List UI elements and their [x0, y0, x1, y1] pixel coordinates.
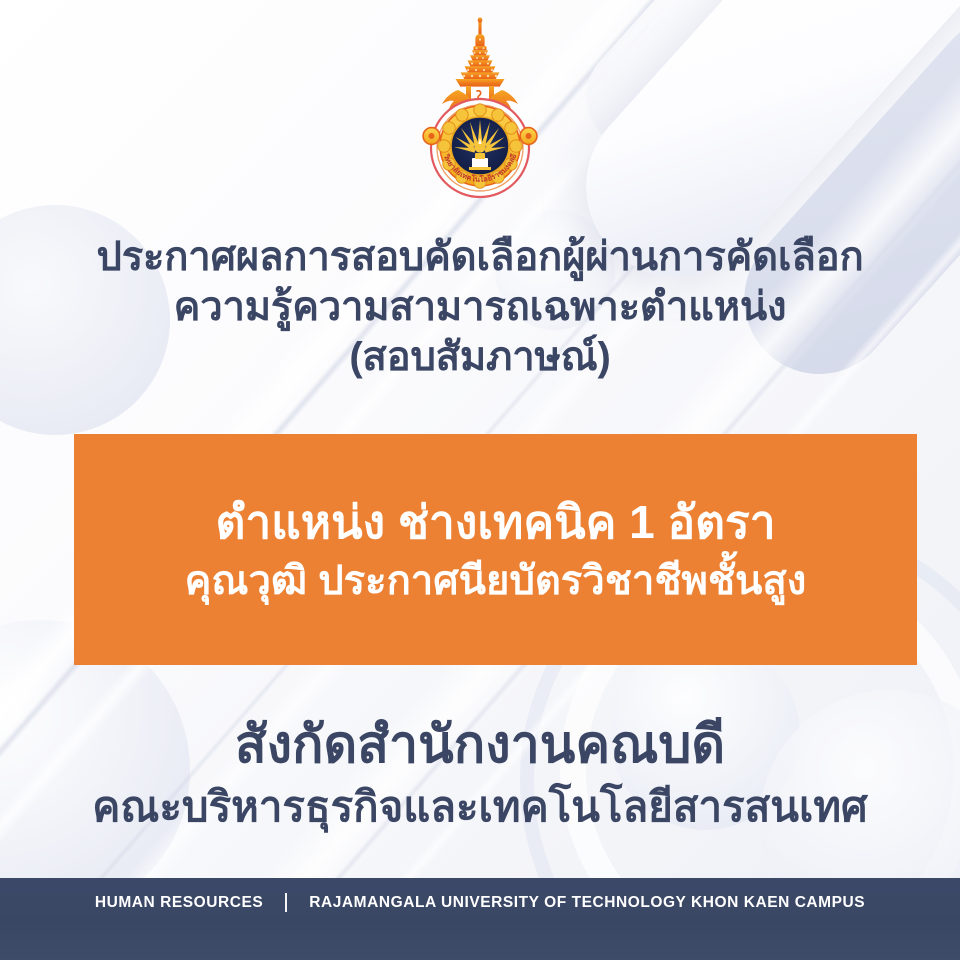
- rmuti-university-emblem-icon: มหาวิทยาลัยเทคโนโลยีราชมงคลอีสาน: [406, 14, 554, 210]
- footer-right-label: RAJAMANGALA UNIVERSITY OF TECHNOLOGY KHO…: [309, 894, 865, 912]
- heading-line-2: ความรู้ความสามารถเฉพาะตำแหน่ง: [0, 282, 960, 332]
- page-title: ประกาศผลการสอบคัดเลือกผู้ผ่านการคัดเลือก…: [0, 232, 960, 382]
- announcement-poster: มหาวิทยาลัยเทคโนโลยีราชมงคลอีสาน ประกาศผ…: [0, 0, 960, 960]
- heading-line-1: ประกาศผลการสอบคัดเลือกผู้ผ่านการคัดเลือก: [0, 232, 960, 282]
- footer-divider: [285, 893, 287, 912]
- department-line-2: คณะบริหารธุรกิจและเทคโนโลยีสารสนเทศ: [0, 778, 960, 836]
- logo-container: มหาวิทยาลัยเทคโนโลยีราชมงคลอีสาน: [0, 14, 960, 210]
- qualification-line: คุณวุฒิ ประกาศนียบัตรวิชาชีพชั้นสูง: [185, 553, 807, 609]
- position-line: ตำแหน่ง ช่างเทคนิค 1 อัตรา: [215, 491, 775, 553]
- footer-left-label: HUMAN RESOURCES: [95, 894, 263, 912]
- department-block: สังกัดสำนักงานคณบดี คณะบริหารธุรกิจและเท…: [0, 712, 960, 836]
- footer-bar: HUMAN RESOURCES RAJAMANGALA UNIVERSITY O…: [0, 878, 960, 960]
- footer-content: HUMAN RESOURCES RAJAMANGALA UNIVERSITY O…: [95, 893, 865, 912]
- heading-line-3: (สอบสัมภาษณ์): [0, 332, 960, 382]
- department-line-1: สังกัดสำนักงานคณบดี: [0, 712, 960, 778]
- position-highlight-panel: ตำแหน่ง ช่างเทคนิค 1 อัตรา คุณวุฒิ ประกา…: [74, 434, 917, 665]
